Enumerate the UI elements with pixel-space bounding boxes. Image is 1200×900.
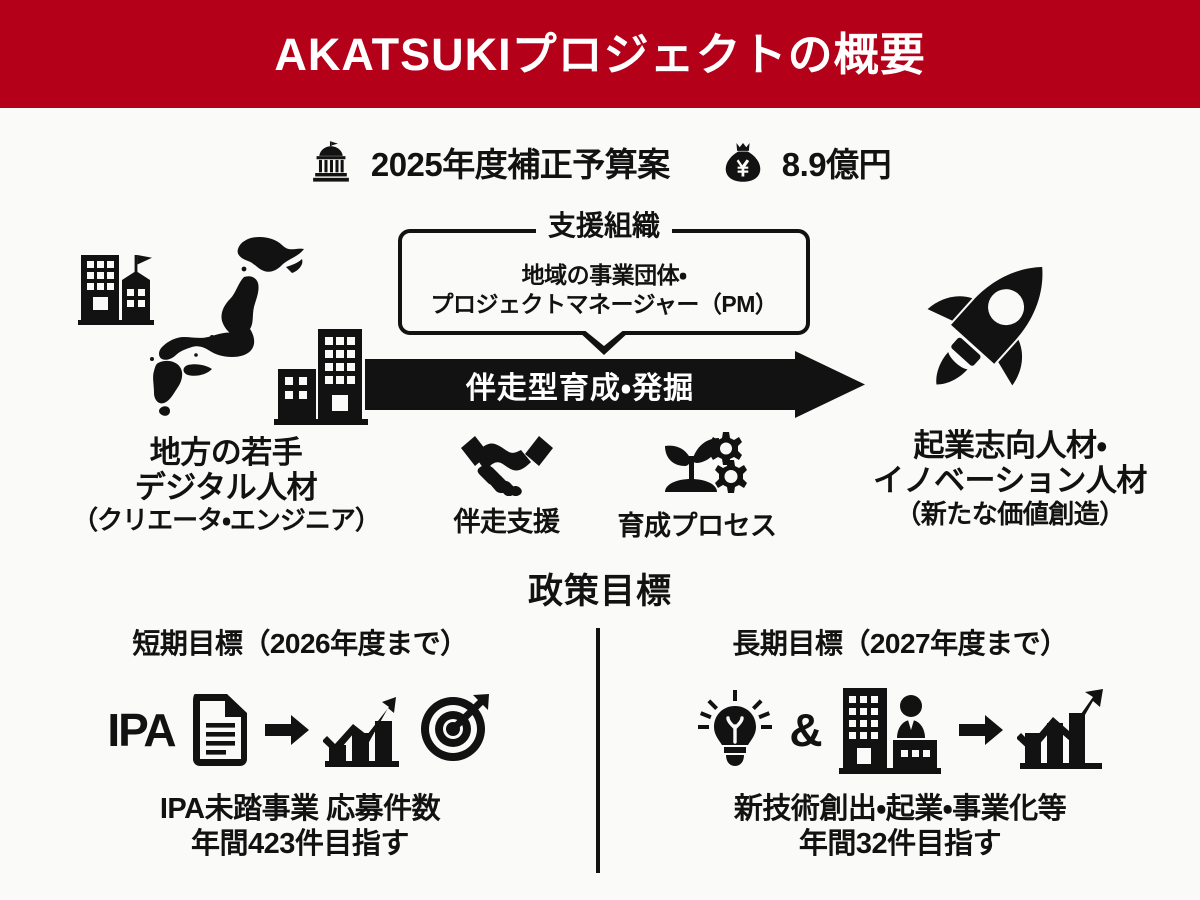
support-organization-line1: 地域の事業団体・ bbox=[402, 261, 806, 290]
target-dartboard-icon bbox=[415, 691, 493, 769]
short-term-line2: 年間423件目指す bbox=[20, 827, 580, 862]
short-term-line1: IPA未踏事業 応募件数 bbox=[20, 792, 580, 827]
document-icon bbox=[189, 691, 251, 769]
source-label-line3: （クリエータ・エンジニア） bbox=[26, 505, 426, 536]
ipa-wordmark: IPA bbox=[107, 707, 174, 753]
source-cluster bbox=[78, 233, 378, 428]
support-organization-legend: 支援組織 bbox=[536, 212, 672, 240]
policy-goals-title: 政策目標 bbox=[0, 563, 1200, 614]
rocket-icon bbox=[905, 243, 1075, 408]
target-label: 起業志向人材・ イノベーション人材 （新たな価値創造） bbox=[820, 428, 1200, 530]
building-businessperson-icon bbox=[837, 684, 945, 776]
goal-column-long-term: 長期目標（2027年度まで） & bbox=[620, 622, 1180, 863]
process-arrow: 伴走型育成・発掘 bbox=[365, 351, 865, 418]
long-term-icon-group: & bbox=[620, 684, 1180, 776]
target-label-line3: （新たな価値創造） bbox=[820, 499, 1200, 530]
short-term-heading: 短期目標（2026年度まで） bbox=[20, 622, 580, 662]
goals-divider bbox=[596, 628, 600, 873]
short-term-text: IPA未踏事業 応募件数 年間423件目指す bbox=[20, 792, 580, 863]
process-arrow-label: 伴走型育成・発掘 bbox=[365, 351, 795, 418]
target-label-line1: 起業志向人材・ bbox=[820, 428, 1200, 463]
arrow-right-icon bbox=[265, 713, 309, 747]
middle-icon-group: 伴走支援 育成プロセス bbox=[420, 430, 810, 543]
goal-column-short-term: 短期目標（2026年度まで） IPA bbox=[20, 622, 580, 863]
ampersand-separator: & bbox=[789, 707, 822, 753]
callout-tail-inner bbox=[583, 329, 625, 346]
middle-icon-caption-0: 伴走支援 bbox=[454, 500, 560, 539]
growth-chart-icon bbox=[323, 691, 401, 769]
support-organization-body: 地域の事業団体・ プロジェクトマネージャー（PM） bbox=[402, 261, 806, 318]
seedling-gears-icon bbox=[645, 430, 749, 500]
lightbulb-icon bbox=[695, 690, 775, 770]
short-term-icon-group: IPA bbox=[20, 684, 580, 776]
handshake-icon bbox=[459, 430, 555, 496]
long-term-line1: 新技術創出・起業・事業化等 bbox=[620, 792, 1180, 827]
middle-icon-item-1: 育成プロセス bbox=[618, 430, 777, 543]
source-label-line1: 地方の若手 bbox=[26, 435, 426, 470]
source-label: 地方の若手 デジタル人材 （クリエータ・エンジニア） bbox=[26, 435, 426, 536]
growth-chart-icon bbox=[1017, 687, 1105, 773]
support-organization-box: 支援組織 地域の事業団体・ プロジェクトマネージャー（PM） bbox=[398, 229, 810, 335]
arrow-right-icon bbox=[959, 713, 1003, 747]
long-term-text: 新技術創出・起業・事業化等 年間32件目指す bbox=[620, 792, 1180, 863]
support-organization-line2: プロジェクトマネージャー（PM） bbox=[402, 290, 806, 319]
long-term-heading: 長期目標（2027年度まで） bbox=[620, 622, 1180, 662]
source-label-line2: デジタル人材 bbox=[26, 470, 426, 505]
middle-icon-caption-1: 育成プロセス bbox=[618, 504, 777, 543]
middle-icon-item-0: 伴走支援 bbox=[454, 430, 560, 543]
long-term-line2: 年間32件目指す bbox=[620, 827, 1180, 862]
target-label-line2: イノベーション人材 bbox=[820, 463, 1200, 498]
city-buildings-icon bbox=[274, 325, 370, 425]
